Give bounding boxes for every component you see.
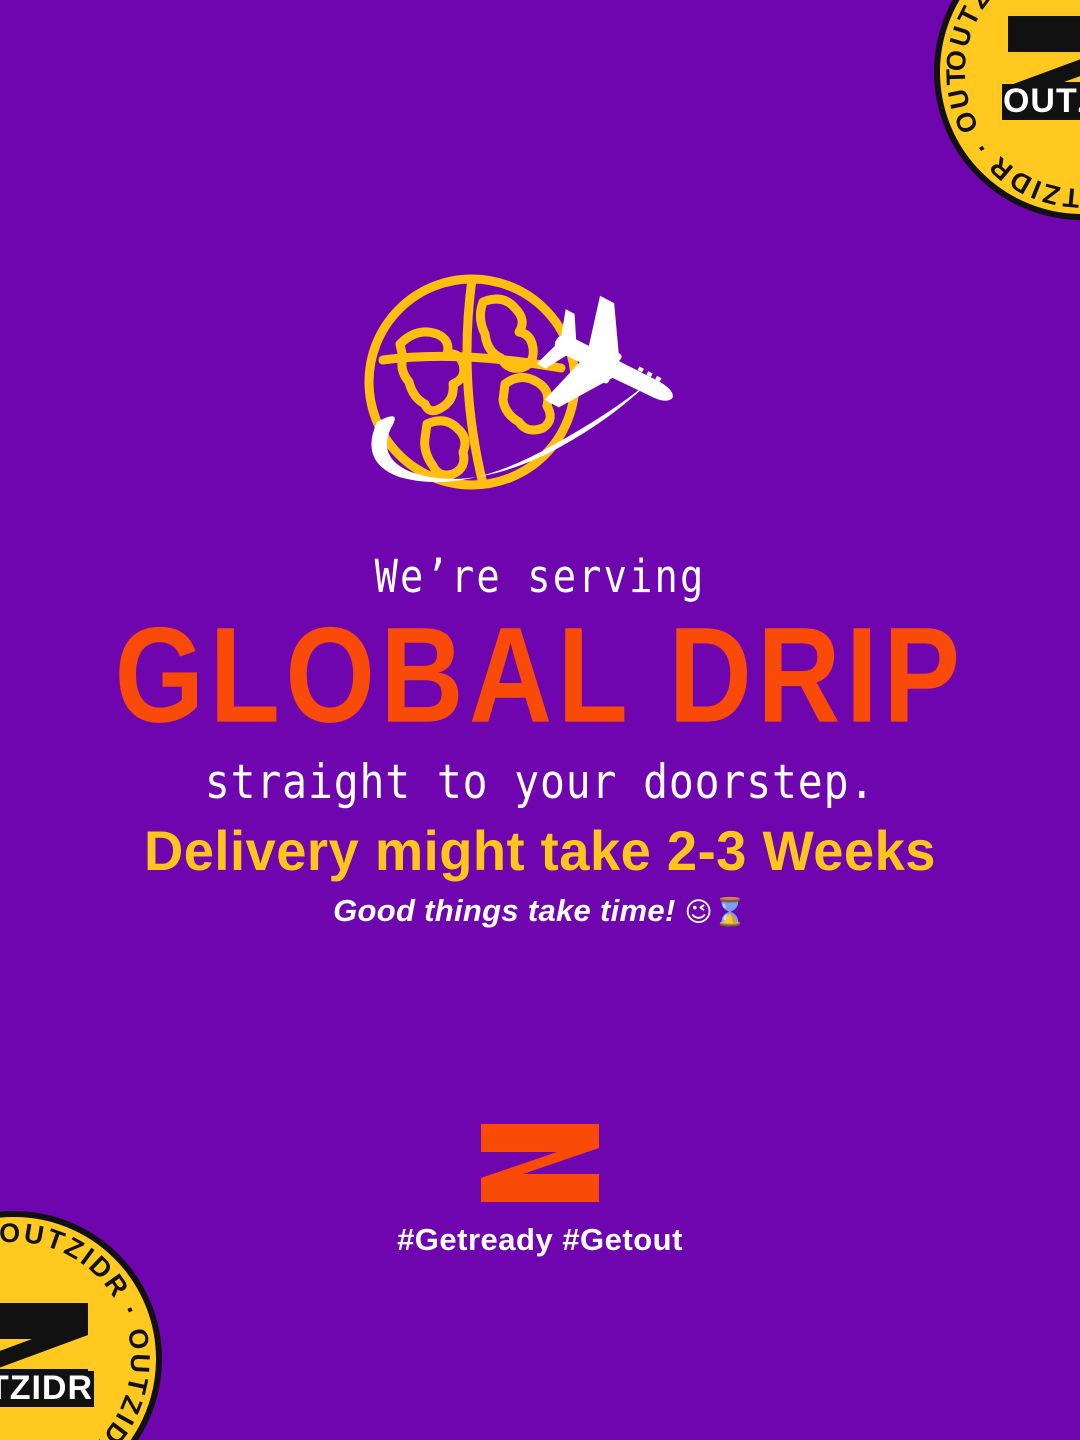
delivery-reassurance-label: Good things take time! xyxy=(333,893,675,928)
delivery-estimate-text: Delivery might take 2-3 Weeks xyxy=(16,818,1064,884)
outzidr-seal-bottom-left: OUTZIDR · OUTZIDR · OUTZIDR · OUTZIDR · … xyxy=(0,1205,168,1440)
outzidr-seal-top-right: OUTZIDR · OUTZIDR · OUTZIDR · OUTZIDR · … xyxy=(928,0,1080,226)
wink-hourglass-emoji: 😉⌛ xyxy=(685,897,747,928)
promo-poster: We’re serving GLOBAL DRIP straight to yo… xyxy=(0,0,1080,1440)
delivery-note: Delivery might take 2-3 Weeks Good thing… xyxy=(0,818,1080,934)
globe-airplane-illustration xyxy=(355,272,720,517)
badge-center-wordmark: OUTZIDR xyxy=(1003,82,1080,120)
kicker-text: We’re serving xyxy=(76,548,1005,606)
page-title: GLOBAL DRIP xyxy=(54,617,1026,736)
delivery-reassurance-text: Good things take time! 😉⌛ xyxy=(0,890,1080,934)
badge-center-wordmark: OUTZIDR xyxy=(0,1369,93,1407)
headline-block: We’re serving GLOBAL DRIP straight to yo… xyxy=(0,548,1080,812)
subline-text: straight to your doorstep. xyxy=(65,754,1015,812)
outzidr-z-logo-icon xyxy=(479,1122,601,1204)
